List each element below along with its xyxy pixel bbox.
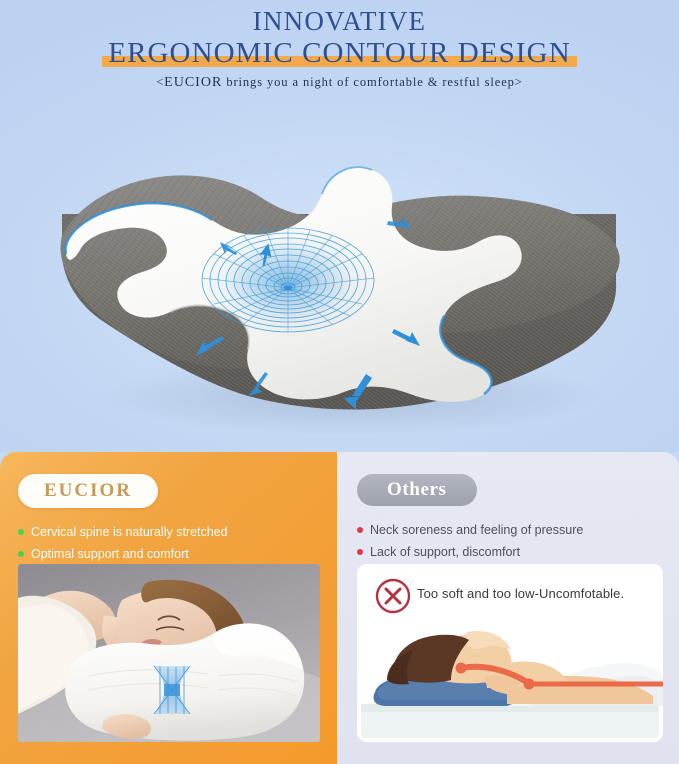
tagline: <EUCIOR brings you a night of comfortabl… (0, 75, 679, 91)
pressure-vortex-graphic (198, 226, 378, 338)
pillow-product-image (0, 96, 679, 446)
bullet-dot-icon (18, 551, 24, 557)
woman-sleeping-illustration (18, 564, 320, 742)
drawback-text: Lack of support, discomfort (370, 542, 520, 562)
bullet-dot-icon (357, 549, 363, 555)
benefit-text: Cervical spine is naturally stretched (31, 522, 228, 542)
headline-line-1: INNOVATIVE (0, 6, 679, 36)
drawback-text: Neck soreness and feeling of pressure (370, 520, 583, 540)
title-block: INNOVATIVE ERGONOMIC CONTOUR DESIGN <EUC… (0, 6, 679, 91)
badge-others: Others (357, 474, 477, 506)
tagline-rest: brings you a night of comfortable & rest… (222, 75, 522, 89)
pillow-illustration (0, 96, 679, 446)
bullet-dot-icon (18, 529, 24, 535)
tagline-brand: EUCIOR (164, 75, 222, 90)
product-infographic: INNOVATIVE ERGONOMIC CONTOUR DESIGN <EUC… (0, 0, 679, 764)
panel-others: Others Neck soreness and feeling of pres… (337, 452, 679, 764)
list-item: Lack of support, discomfort (357, 542, 679, 562)
eucior-benefit-list: Cervical spine is naturally stretched Op… (18, 522, 337, 564)
hero-section: INNOVATIVE ERGONOMIC CONTOUR DESIGN <EUC… (0, 0, 679, 452)
list-item: Neck soreness and feeling of pressure (357, 520, 679, 540)
list-item: Optimal support and comfort (18, 544, 337, 564)
callout-text: Too soft and too low-Uncomfotable. (417, 586, 624, 601)
list-item: Cervical spine is naturally stretched (18, 522, 337, 542)
bullet-dot-icon (357, 527, 363, 533)
others-problem-illustration: Too soft and too low-Uncomfotable. (357, 564, 663, 742)
callout-row: Too soft and too low-Uncomfotable. (417, 586, 624, 601)
badge-eucior: EUCIOR (18, 474, 158, 508)
others-drawback-list: Neck soreness and feeling of pressure La… (357, 520, 679, 562)
eucior-usage-photo (18, 564, 320, 742)
headline-line-2-wrapper: ERGONOMIC CONTOUR DESIGN (108, 37, 571, 69)
panel-eucior: EUCIOR Cervical spine is naturally stret… (0, 452, 337, 764)
comparison-section: EUCIOR Cervical spine is naturally stret… (0, 452, 679, 764)
tagline-open-bracket: < (156, 75, 164, 89)
benefit-text: Optimal support and comfort (31, 544, 189, 564)
headline-line-2: ERGONOMIC CONTOUR DESIGN (108, 37, 571, 69)
